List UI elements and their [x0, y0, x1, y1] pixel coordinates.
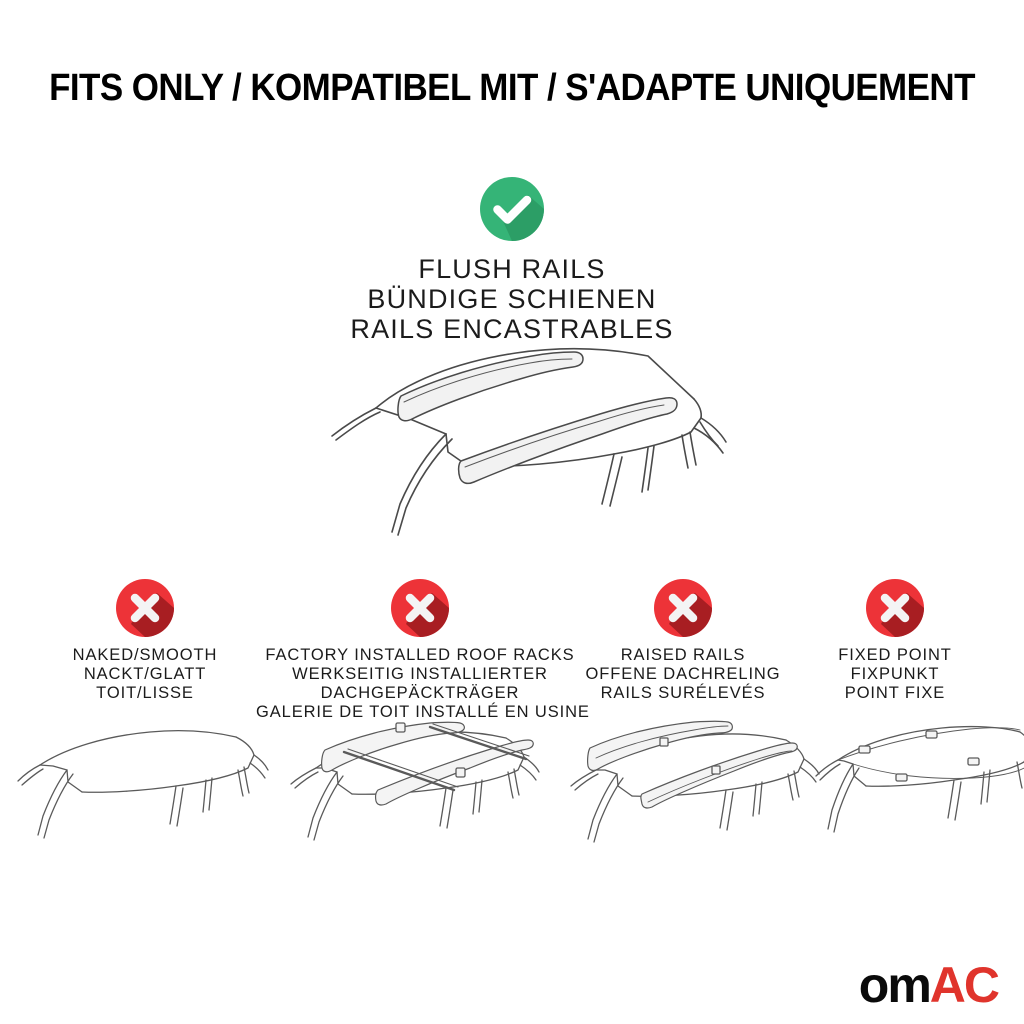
- compatible-section: FLUSH RAILS BÜNDIGE SCHIENEN RAILS ENCAS…: [262, 176, 762, 344]
- incompatible-label-de: NACKT/GLATT: [35, 665, 255, 684]
- incompatible-labels: FACTORY INSTALLED ROOF RACKS WERKSEITIG …: [256, 646, 584, 722]
- incompatible-label-de-1: WERKSEITIG INSTALLIERTER: [256, 665, 584, 684]
- logo-text-om: om: [859, 957, 930, 1013]
- logo-text-ac: AC: [930, 957, 998, 1013]
- x-circle-icon: [390, 578, 450, 638]
- incompatible-label-en: RAISED RAILS: [572, 646, 794, 665]
- omac-logo: omAC: [859, 960, 998, 1010]
- incompatible-item-raised-rails: RAISED RAILS OFFENE DACHRELING RAILS SUR…: [572, 578, 794, 703]
- car-roof-flush-rails-illustration: [296, 336, 746, 551]
- car-roof-raised-rails-illustration: [560, 718, 836, 886]
- incompatible-label-de: FIXPUNKT: [790, 665, 1000, 684]
- incompatible-label-fr: TOIT/LISSE: [35, 684, 255, 703]
- incompatible-label-en: NAKED/SMOOTH: [35, 646, 255, 665]
- car-roof-factory-racks-illustration: [278, 718, 564, 886]
- incompatible-label-de-2: DACHGEPÄCKTRÄGER: [256, 684, 584, 703]
- incompatible-section: NAKED/SMOOTH NACKT/GLATT TOIT/LISSE FACT…: [0, 578, 1024, 718]
- incompatible-item-factory-installed-roof-racks: FACTORY INSTALLED ROOF RACKS WERKSEITIG …: [256, 578, 584, 722]
- compatible-label-en: FLUSH RAILS: [262, 254, 762, 284]
- incompatible-item-naked-smooth: NAKED/SMOOTH NACKT/GLATT TOIT/LISSE: [35, 578, 255, 703]
- x-circle-icon: [865, 578, 925, 638]
- incompatible-illustrations: [0, 718, 1024, 888]
- incompatible-label-en: FIXED POINT: [790, 646, 1000, 665]
- incompatible-label-fr: RAILS SURÉLEVÉS: [572, 684, 794, 703]
- car-roof-naked-illustration: [10, 718, 272, 886]
- incompatible-item-fixed-point: FIXED POINT FIXPUNKT POINT FIXE: [790, 578, 1000, 703]
- incompatible-labels: RAISED RAILS OFFENE DACHRELING RAILS SUR…: [572, 646, 794, 703]
- incompatible-label-fr: POINT FIXE: [790, 684, 1000, 703]
- compatible-labels: FLUSH RAILS BÜNDIGE SCHIENEN RAILS ENCAS…: [262, 254, 762, 344]
- page-title: FITS ONLY / KOMPATIBEL MIT / S'ADAPTE UN…: [41, 66, 983, 110]
- x-circle-icon: [115, 578, 175, 638]
- incompatible-labels: FIXED POINT FIXPUNKT POINT FIXE: [790, 646, 1000, 703]
- check-circle-icon: [479, 176, 545, 242]
- incompatible-labels: NAKED/SMOOTH NACKT/GLATT TOIT/LISSE: [35, 646, 255, 703]
- incompatible-label-en: FACTORY INSTALLED ROOF RACKS: [256, 646, 584, 665]
- fitment-infographic: FITS ONLY / KOMPATIBEL MIT / S'ADAPTE UN…: [0, 0, 1024, 1024]
- compatible-label-de: BÜNDIGE SCHIENEN: [262, 284, 762, 314]
- car-roof-fixed-point-illustration: [812, 718, 1024, 886]
- x-circle-icon: [653, 578, 713, 638]
- incompatible-label-de: OFFENE DACHRELING: [572, 665, 794, 684]
